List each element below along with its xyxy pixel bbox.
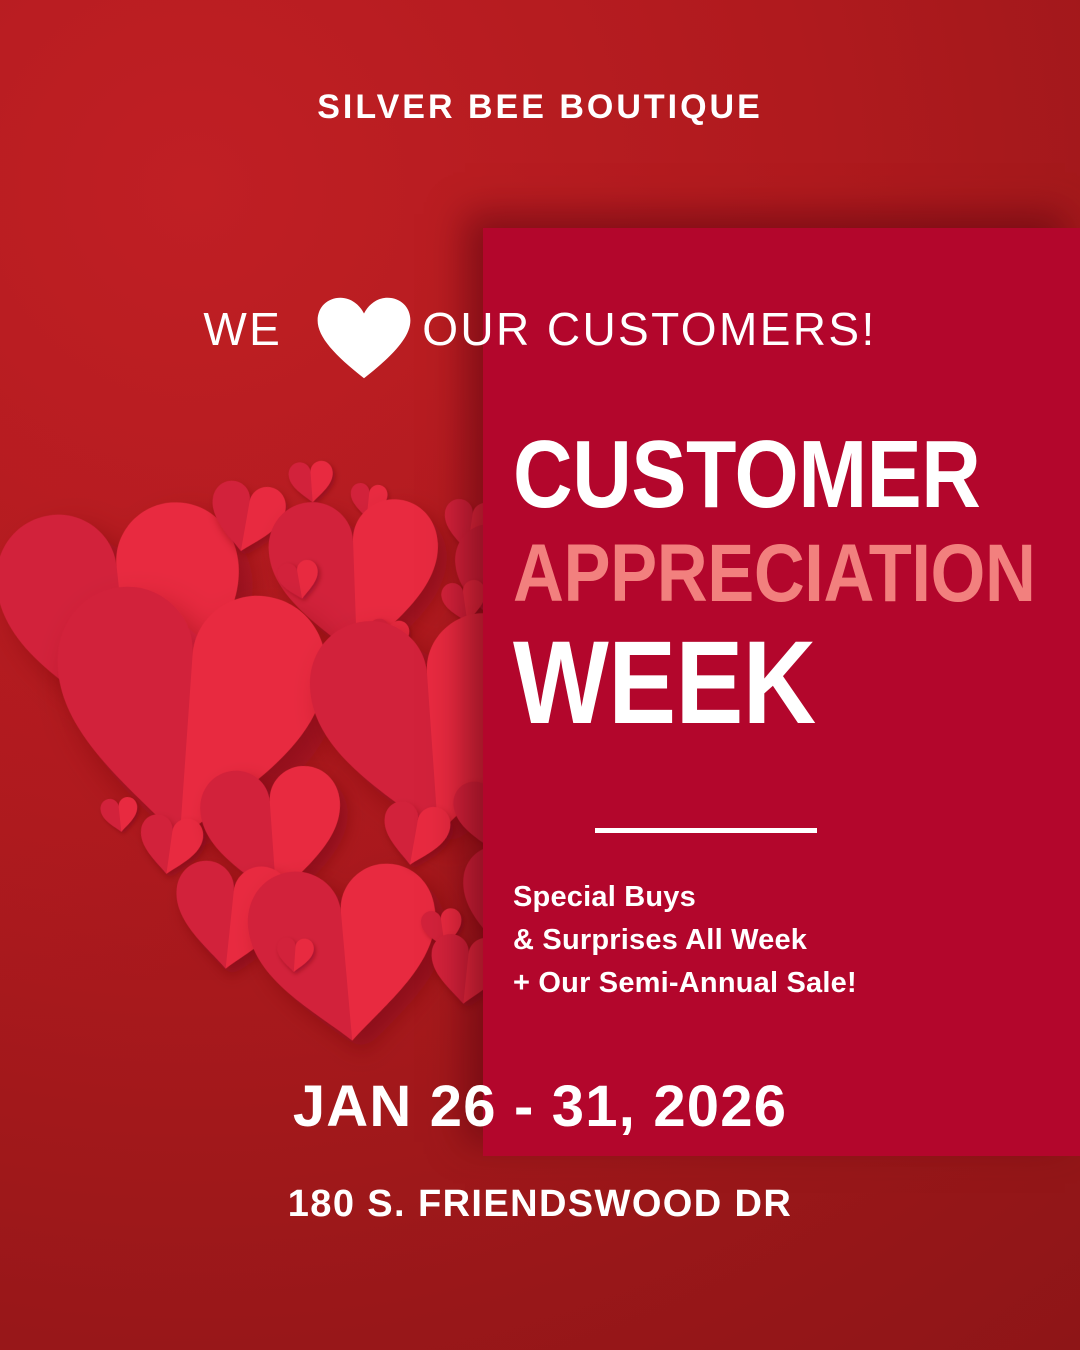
offer-details: Special Buys & Surprises All Week + Our … <box>513 876 973 1005</box>
heart-shape <box>198 764 347 903</box>
tagline-before: WE <box>203 302 282 356</box>
event-address: 180 S. FRIENDSWOOD DR <box>0 1183 1080 1226</box>
offer-line-3: + Our Semi-Annual Sale! <box>513 962 973 1005</box>
heart-shape <box>377 799 453 871</box>
heart-shape <box>288 460 335 504</box>
heart-shape <box>244 860 446 1049</box>
heart-shape <box>420 907 465 950</box>
headline-block: CUSTOMER APPRECIATION WEEK <box>513 434 1053 735</box>
headline-line-customer: CUSTOMER <box>513 434 977 517</box>
heart-shape <box>46 582 331 848</box>
divider-rule <box>595 828 817 833</box>
heart-shape <box>267 498 442 660</box>
heart-shape <box>169 858 293 975</box>
heart-shape <box>440 579 489 626</box>
tagline: WE OUR CUSTOMERS! <box>0 288 1080 370</box>
heart-shape <box>99 796 139 834</box>
heart-icon <box>310 296 418 380</box>
heart-shape <box>135 812 205 878</box>
heart-shape <box>275 937 314 973</box>
event-dates: JAN 26 - 31, 2026 <box>0 1073 1080 1140</box>
heart-shape <box>84 557 203 669</box>
offer-line-2: & Surprises All Week <box>513 919 973 962</box>
headline-line-week: WEEK <box>513 633 977 734</box>
offer-line-1: Special Buys <box>513 876 973 919</box>
brand-name: SILVER BEE BOUTIQUE <box>0 88 1080 127</box>
heart-shape <box>366 618 410 659</box>
headline-line-appreciation: APPRECIATION <box>513 539 977 610</box>
heart-shape <box>0 496 255 745</box>
heart-shape <box>205 478 289 558</box>
heart-shape <box>348 482 388 520</box>
poster-canvas: SILVER BEE BOUTIQUE WE OUR CUSTOMERS! CU… <box>0 0 1080 1350</box>
heart-shape <box>276 558 322 602</box>
tagline-after: OUR CUSTOMERS! <box>422 302 876 356</box>
